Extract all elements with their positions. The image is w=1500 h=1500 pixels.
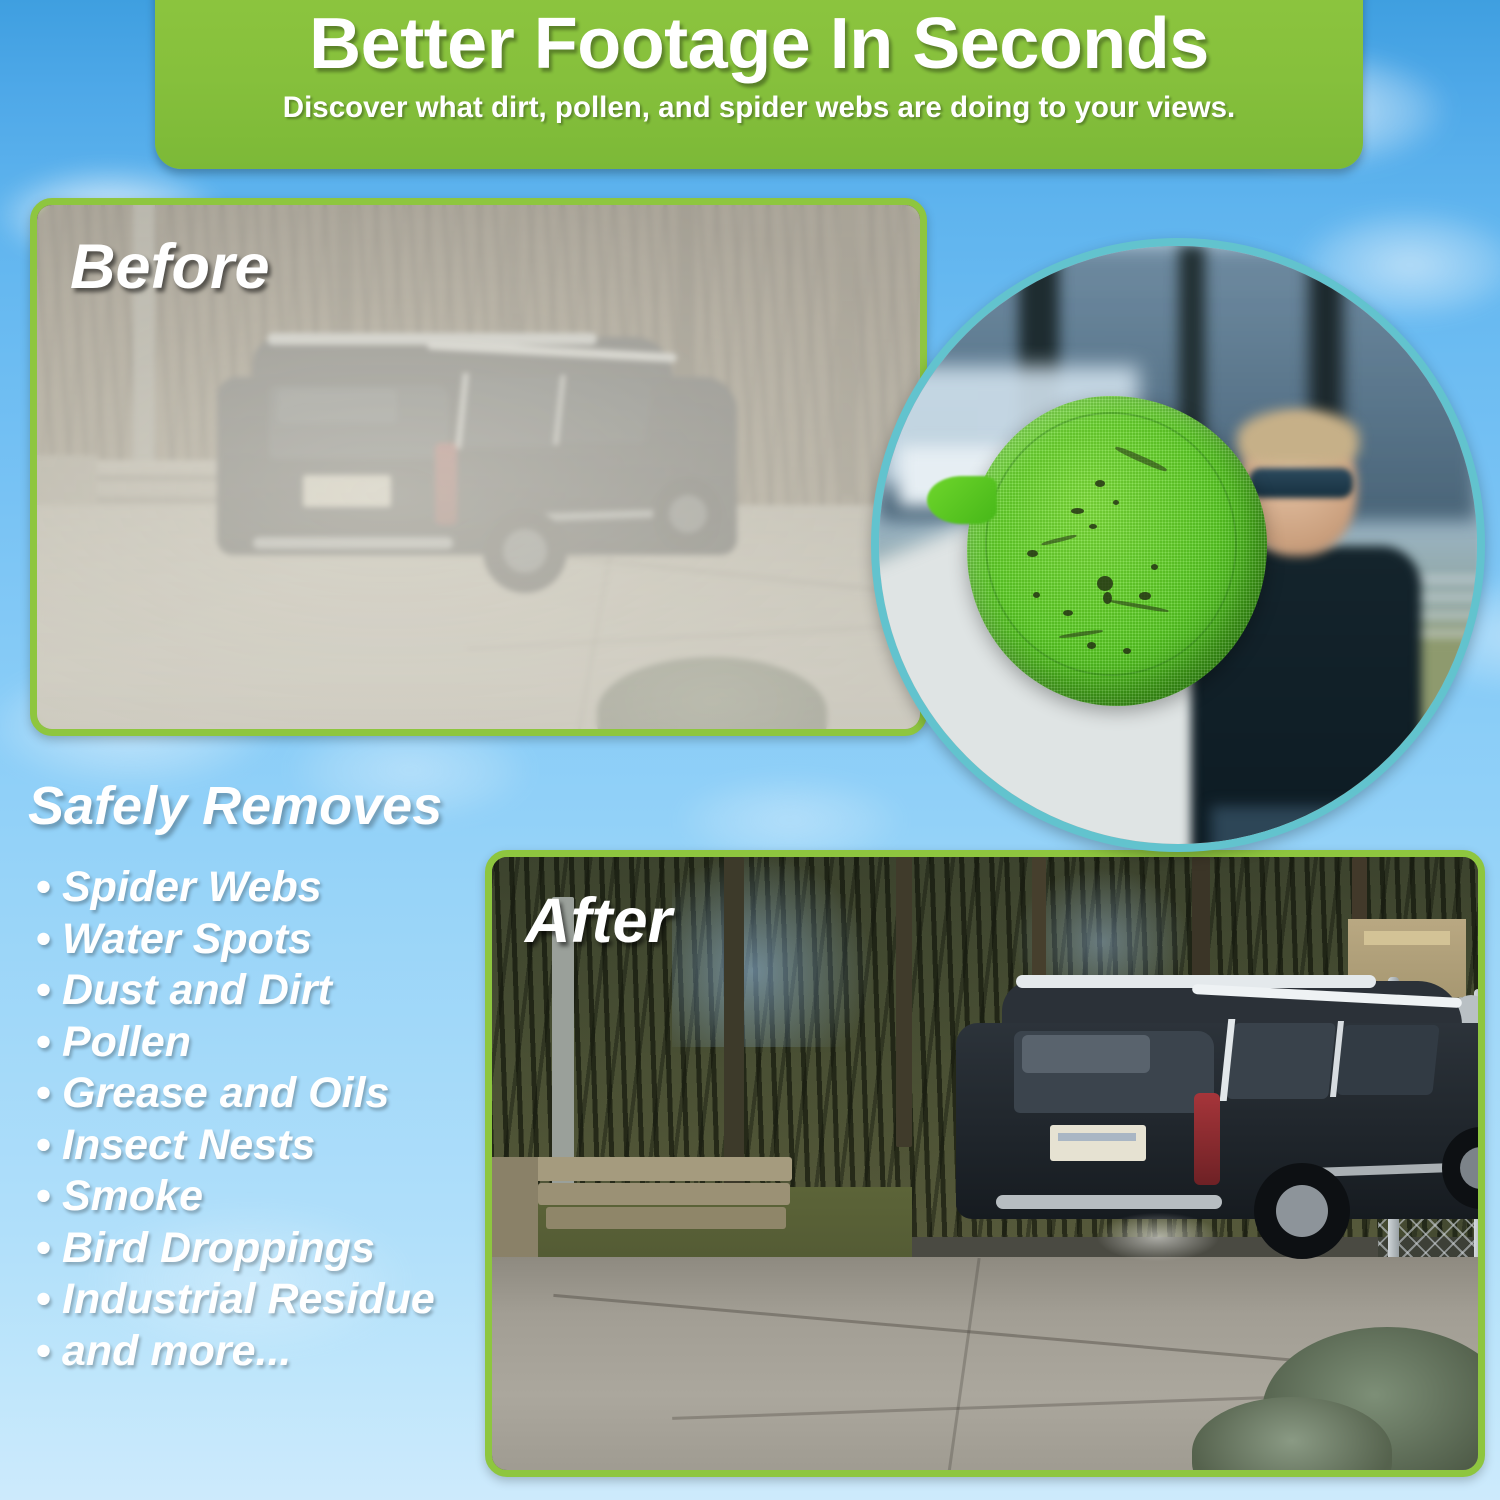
- page-title: Better Footage In Seconds: [155, 2, 1363, 86]
- list-item: •Water Spots: [36, 914, 506, 966]
- bullet-icon: •: [36, 1120, 62, 1172]
- infographic-canvas: Better Footage In Seconds Discover what …: [0, 0, 1500, 1500]
- list-item-label: Pollen: [62, 1018, 191, 1066]
- sunglasses-icon: [1249, 468, 1353, 498]
- person-hair: [1237, 409, 1359, 465]
- after-photo: After: [492, 857, 1478, 1470]
- bullet-icon: •: [36, 1274, 62, 1326]
- list-item-label: Water Spots: [62, 915, 312, 963]
- list-item-label: and more...: [62, 1327, 291, 1375]
- list-item-label: Bird Droppings: [62, 1224, 375, 1272]
- page-subtitle: Discover what dirt, pollen, and spider w…: [155, 90, 1363, 126]
- before-label: Before: [70, 231, 270, 303]
- list-item: •Grease and Oils: [36, 1068, 506, 1120]
- list-item-label: Insect Nests: [62, 1121, 315, 1169]
- bullet-icon: •: [36, 1068, 62, 1120]
- bullet-icon: •: [36, 914, 62, 966]
- list-item: •Bird Droppings: [36, 1223, 506, 1275]
- bullet-icon: •: [36, 1326, 62, 1378]
- list-item-label: Dust and Dirt: [62, 966, 332, 1014]
- list-item: •Industrial Residue: [36, 1274, 506, 1326]
- bullet-icon: •: [36, 1017, 62, 1069]
- after-photo-frame: After: [485, 850, 1485, 1477]
- list-item: •Smoke: [36, 1171, 506, 1223]
- before-photo-frame: Before: [30, 198, 927, 736]
- removes-heading: Safely Removes: [28, 776, 442, 836]
- list-item: •Dust and Dirt: [36, 965, 506, 1017]
- bullet-icon: •: [36, 1223, 62, 1275]
- list-item: •Spider Webs: [36, 862, 506, 914]
- list-item-label: Spider Webs: [62, 863, 322, 911]
- bullet-icon: •: [36, 862, 62, 914]
- bullet-icon: •: [36, 965, 62, 1017]
- before-photo: Before: [37, 205, 920, 729]
- list-item-label: Industrial Residue: [62, 1275, 435, 1323]
- after-label: After: [525, 885, 672, 957]
- list-item-label: Grease and Oils: [62, 1069, 389, 1117]
- list-item: •Insect Nests: [36, 1120, 506, 1172]
- microfiber-cloth: [967, 396, 1267, 706]
- removes-list: •Spider Webs •Water Spots •Dust and Dirt…: [36, 862, 506, 1377]
- cloth-closeup-inset: [871, 238, 1485, 852]
- list-item: •and more...: [36, 1326, 506, 1378]
- list-item-label: Smoke: [62, 1172, 203, 1220]
- list-item: •Pollen: [36, 1017, 506, 1069]
- bullet-icon: •: [36, 1171, 62, 1223]
- person-legs: [1211, 806, 1401, 852]
- header-banner: Better Footage In Seconds Discover what …: [155, 0, 1363, 169]
- cloth-closeup-photo: [879, 246, 1477, 844]
